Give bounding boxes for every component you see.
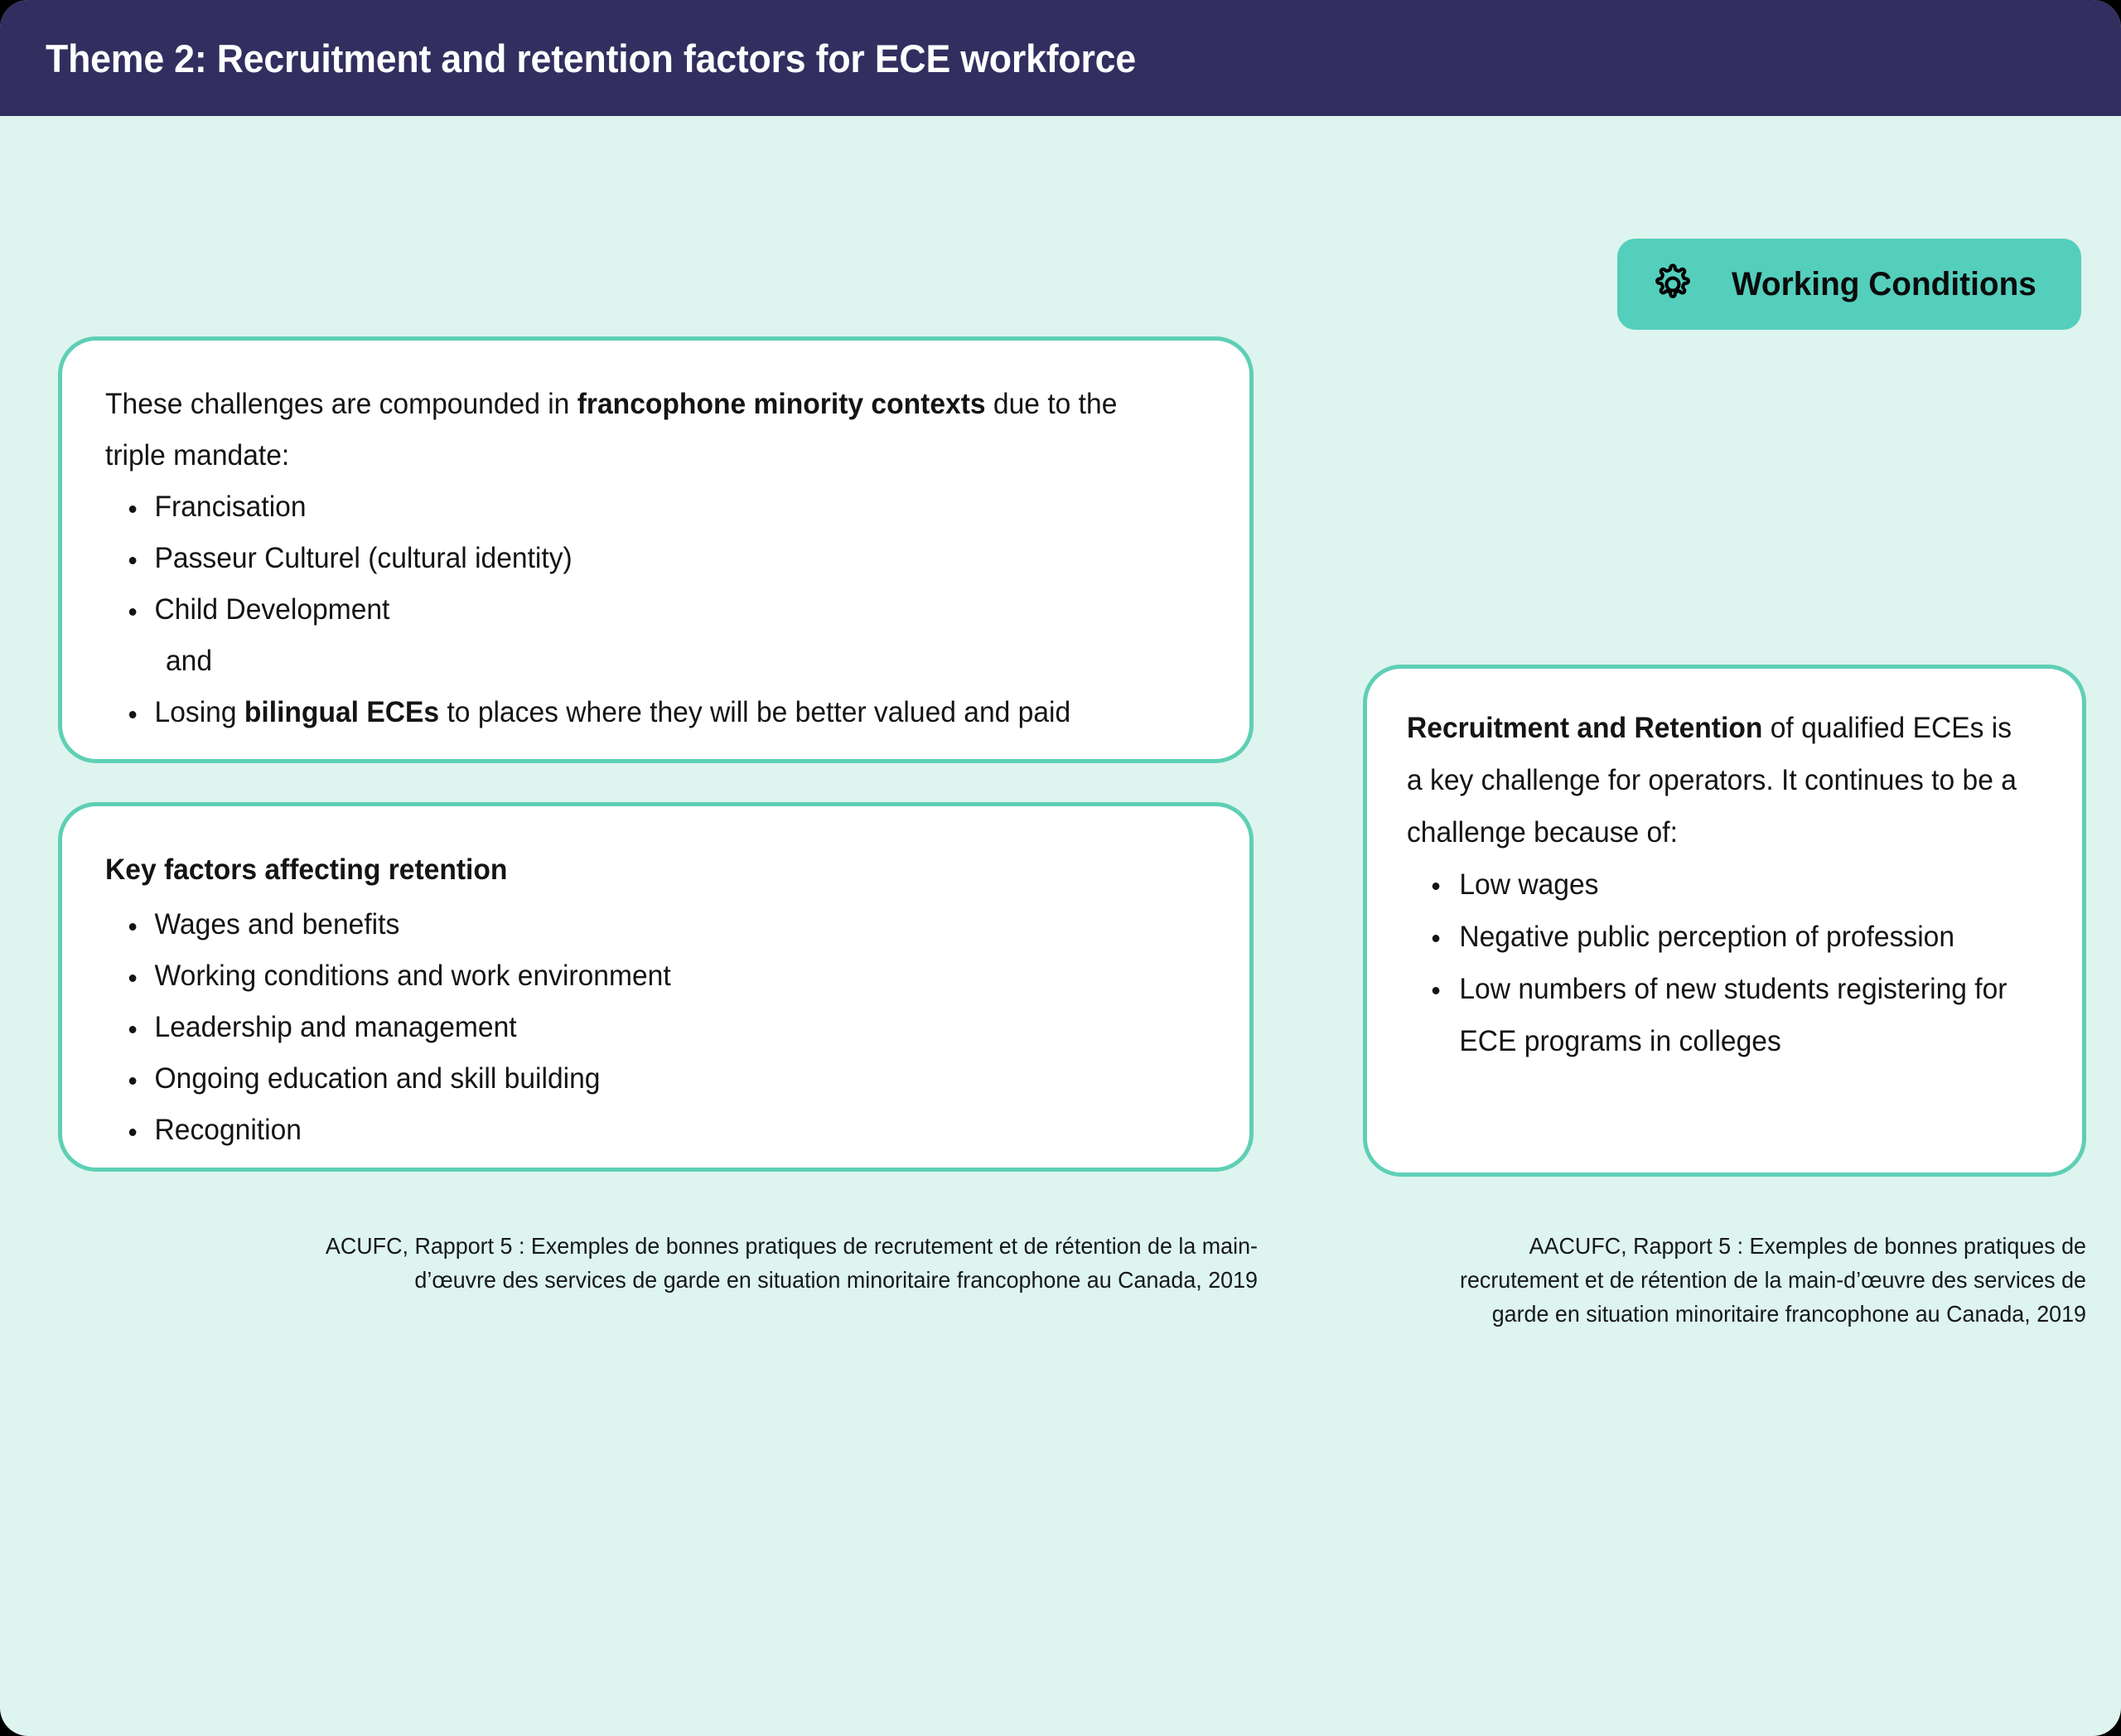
list-item: Passeur Culturel (cultural identity) — [105, 533, 1162, 584]
list-item-losing-bilingual-eces: Losing bilingual ECEs to places where th… — [105, 687, 1162, 738]
card1-intro-paragraph: These challenges are compounded in franc… — [105, 379, 1162, 481]
list-item: Ongoing education and skill building — [105, 1053, 1162, 1105]
list-item: Wages and benefits — [105, 899, 1162, 950]
card1-last-part2: to places where they will be better valu… — [439, 696, 1070, 728]
card2-heading: Key factors affecting retention — [105, 844, 1162, 896]
list-item: Working conditions and work environment — [105, 950, 1162, 1002]
citation-right: AACUFC, Rapport 5 : Exemples de bonnes p… — [1436, 1229, 2086, 1331]
card3-intro-bold: Recruitment and Retention — [1407, 712, 1762, 744]
card1-bullet-list: Francisation Passeur Culturel (cultural … — [105, 481, 1206, 738]
category-badge-label: Working Conditions — [1732, 266, 2036, 303]
card-body: Recruitment and Retention of qualified E… — [1367, 669, 2082, 1067]
list-item: Leadership and management — [105, 1002, 1162, 1053]
card3-intro-paragraph: Recruitment and Retention of qualified E… — [1407, 702, 2018, 858]
list-item: Negative public perception of profession — [1407, 911, 2018, 963]
card3-bullet-list: Low wages Negative public perception of … — [1407, 858, 2044, 1067]
page-title: Theme 2: Recruitment and retention facto… — [46, 36, 1136, 81]
card1-last-bold: bilingual ECEs — [244, 696, 439, 728]
list-item-and: and — [105, 636, 1162, 687]
card-francophone-minority-contexts: These challenges are compounded in franc… — [58, 336, 1254, 763]
category-badge-working-conditions[interactable]: Working Conditions — [1617, 239, 2081, 330]
list-item: Recognition — [105, 1105, 1162, 1156]
slide-root: Theme 2: Recruitment and retention facto… — [0, 0, 2121, 1736]
list-item: Francisation — [105, 481, 1162, 533]
card-recruitment-and-retention: Recruitment and Retention of qualified E… — [1363, 665, 2086, 1177]
list-item: Low wages — [1407, 858, 2018, 911]
card1-last-part1: Losing — [155, 696, 244, 728]
card-body: Key factors affecting retention Wages an… — [62, 806, 1249, 1156]
citation-left: ACUFC, Rapport 5 : Exemples de bonnes pr… — [289, 1229, 1258, 1297]
card1-intro-part1: These challenges are compounded in — [105, 388, 577, 420]
card1-intro-bold: francophone minority contexts — [577, 388, 986, 420]
list-item: Low numbers of new students registering … — [1407, 963, 2018, 1067]
card2-bullet-list: Wages and benefits Working conditions an… — [105, 899, 1206, 1156]
card-body: These challenges are compounded in franc… — [62, 341, 1249, 738]
list-item: Child Development — [105, 584, 1162, 636]
card-key-factors-affecting-retention: Key factors affecting retention Wages an… — [58, 802, 1254, 1172]
gear-icon — [1649, 260, 1697, 308]
header-bar: Theme 2: Recruitment and retention facto… — [0, 0, 2121, 116]
